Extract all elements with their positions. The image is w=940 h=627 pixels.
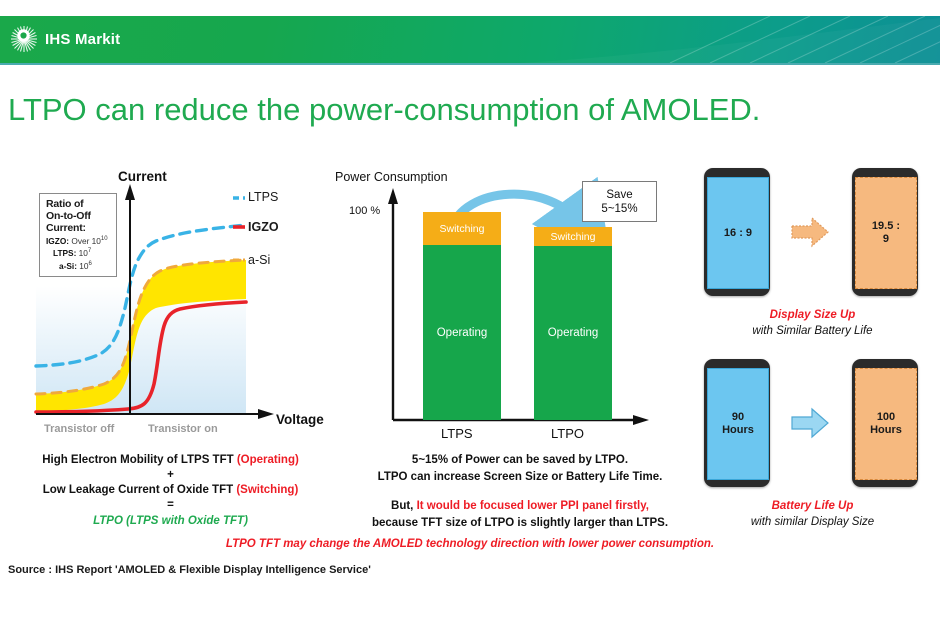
phone-comparison-panel: 16 : 9 19.5 : 9 Display Size Up with Sim… <box>690 168 935 548</box>
bar-ltps-switching: Switching <box>423 212 501 245</box>
y-axis-arrow <box>125 184 135 200</box>
transfer-curve-chart: Current Voltage LTPS IGZO a-Si Transisto… <box>8 168 328 443</box>
ratio-row-ltps: LTPS: 107 <box>46 246 111 258</box>
summary-line4: because TFT size of LTPO is slightly lar… <box>345 515 695 532</box>
equation-line1-black: High Electron Mobility of LTPS TFT <box>42 454 237 466</box>
phone-row1-caption-red: Display Size Up <box>690 309 935 321</box>
ratio-row-asi-exp: 6 <box>89 261 92 267</box>
phone-row1-right-line1: 19.5 : <box>872 220 900 232</box>
bar-ltps-operating: Operating <box>423 245 501 420</box>
summary-line2: LTPO can increase Screen Size or Battery… <box>345 469 695 486</box>
ratio-title-line3: Current: <box>46 222 111 234</box>
summary-line3: But, It would be focused lower PPI panel… <box>345 498 695 515</box>
equation-line1-red: (Operating) <box>237 454 299 466</box>
power-consumption-chart: Power Consumption 100 % Switching Operat… <box>335 168 665 448</box>
summary-text-block: 5~15% of Power can be saved by LTPO. LTP… <box>345 452 695 532</box>
bar-category-label-ltps: LTPS <box>441 426 473 441</box>
equation-line2-black: Low Leakage Current of Oxide TFT <box>43 484 237 496</box>
page-title: LTPO can reduce the power-consumption of… <box>8 92 760 128</box>
phone-row1-right-line2: 9 <box>883 233 889 245</box>
x-axis-arrow <box>258 409 274 419</box>
save-callout-line1: Save <box>606 188 632 202</box>
ratio-row-igzo-key: IGZO: <box>46 236 69 246</box>
phone-row2-caption-red: Battery Life Up <box>690 500 935 512</box>
equation-line2: Low Leakage Current of Oxide TFT (Switch… <box>8 482 333 499</box>
x-axis-label: Voltage <box>276 412 324 427</box>
header-underline <box>0 63 940 65</box>
ratio-row-ltps-exp: 7 <box>88 248 91 254</box>
equation-line1: High Electron Mobility of LTPS TFT (Oper… <box>8 452 333 469</box>
bar-category-label-ltpo: LTPO <box>551 426 584 441</box>
phone-row2-caption-black: with similar Display Size <box>690 516 935 528</box>
legend-label-igzo: IGZO <box>248 220 279 234</box>
bar-ltpo-operating: Operating <box>534 246 612 420</box>
phone-row1-right: 19.5 : 9 <box>852 168 918 296</box>
phone-row2-right-screen: 100 Hours <box>855 368 917 480</box>
phone-row2-left-line2: Hours <box>722 424 754 436</box>
power-x-axis-arrow <box>633 415 649 425</box>
header-bar: IHS Markit <box>0 16 940 63</box>
equation-text-block: High Electron Mobility of LTPS TFT (Oper… <box>8 452 333 531</box>
legend-label-asi: a-Si <box>248 253 270 267</box>
equation-equals: = <box>8 499 333 512</box>
ratio-row-igzo: IGZO: Over 1010 <box>46 234 111 246</box>
ratio-callout-box: Ratio of On-to-Off Current: IGZO: Over 1… <box>39 193 117 277</box>
phone-row1-left-screen: 16 : 9 <box>707 177 769 289</box>
arrow-right-icon-row2 <box>790 406 830 440</box>
ratio-row-igzo-exp: 10 <box>101 236 108 242</box>
brand-logo-text: IHS Markit <box>45 31 120 48</box>
y-axis-label: Current <box>118 169 167 184</box>
region-label-transistor-off: Transistor off <box>44 423 114 435</box>
summary-line3-red: It would be focused lower PPI panel firs… <box>417 500 649 512</box>
bar-ltpo-switching: Switching <box>534 227 612 246</box>
ratio-row-igzo-val: Over 10 <box>71 236 101 246</box>
summary-line3-black: But, <box>391 500 417 512</box>
save-callout-box: Save 5~15% <box>582 181 657 222</box>
phone-row1-caption-black: with Similar Battery Life <box>690 325 935 337</box>
ratio-title-line2: On-to-Off <box>46 210 111 222</box>
ratio-row-asi: a-Si: 106 <box>46 259 111 271</box>
ratio-title-line1: Ratio of <box>46 198 111 210</box>
phone-row1-left: 16 : 9 <box>704 168 770 296</box>
ratio-row-ltps-val: 10 <box>79 248 88 258</box>
summary-spacer <box>345 486 695 498</box>
brand-logo: IHS Markit <box>10 25 120 53</box>
phone-row2-right: 100 Hours <box>852 359 918 487</box>
legend-label-ltps: LTPS <box>248 190 278 204</box>
arrow-right-icon-row1 <box>790 215 830 249</box>
ratio-row-asi-val: 10 <box>79 260 88 270</box>
power-y-axis-arrow <box>388 188 398 204</box>
header-ray-decoration <box>520 16 940 63</box>
source-citation: Source : IHS Report 'AMOLED & Flexible D… <box>8 564 371 576</box>
phone-row2-right-line2: Hours <box>870 424 902 436</box>
conclusion-note: LTPO TFT may change the AMOLED technolog… <box>0 538 940 550</box>
equation-result: LTPO (LTPS with Oxide TFT) <box>8 512 333 531</box>
ratio-row-asi-key: a-Si: <box>59 260 77 270</box>
summary-line1: 5~15% of Power can be saved by LTPO. <box>345 452 695 469</box>
region-label-transistor-on: Transistor on <box>148 423 218 435</box>
slide-root: IHS Markit LTPO can reduce the power-con… <box>0 0 940 627</box>
phone-row2-left-line1: 90 <box>732 411 744 423</box>
equation-plus: + <box>8 469 333 482</box>
equation-line2-red: (Switching) <box>236 484 298 496</box>
ratio-row-ltps-key: LTPS: <box>53 248 76 258</box>
phone-row2-right-line1: 100 <box>877 411 895 423</box>
sunburst-logo-icon <box>10 25 38 53</box>
phone-row2-left-screen: 90 Hours <box>707 368 769 480</box>
phone-row1-right-screen: 19.5 : 9 <box>855 177 917 289</box>
save-callout-line2: 5~15% <box>601 202 637 216</box>
phone-row2-left: 90 Hours <box>704 359 770 487</box>
